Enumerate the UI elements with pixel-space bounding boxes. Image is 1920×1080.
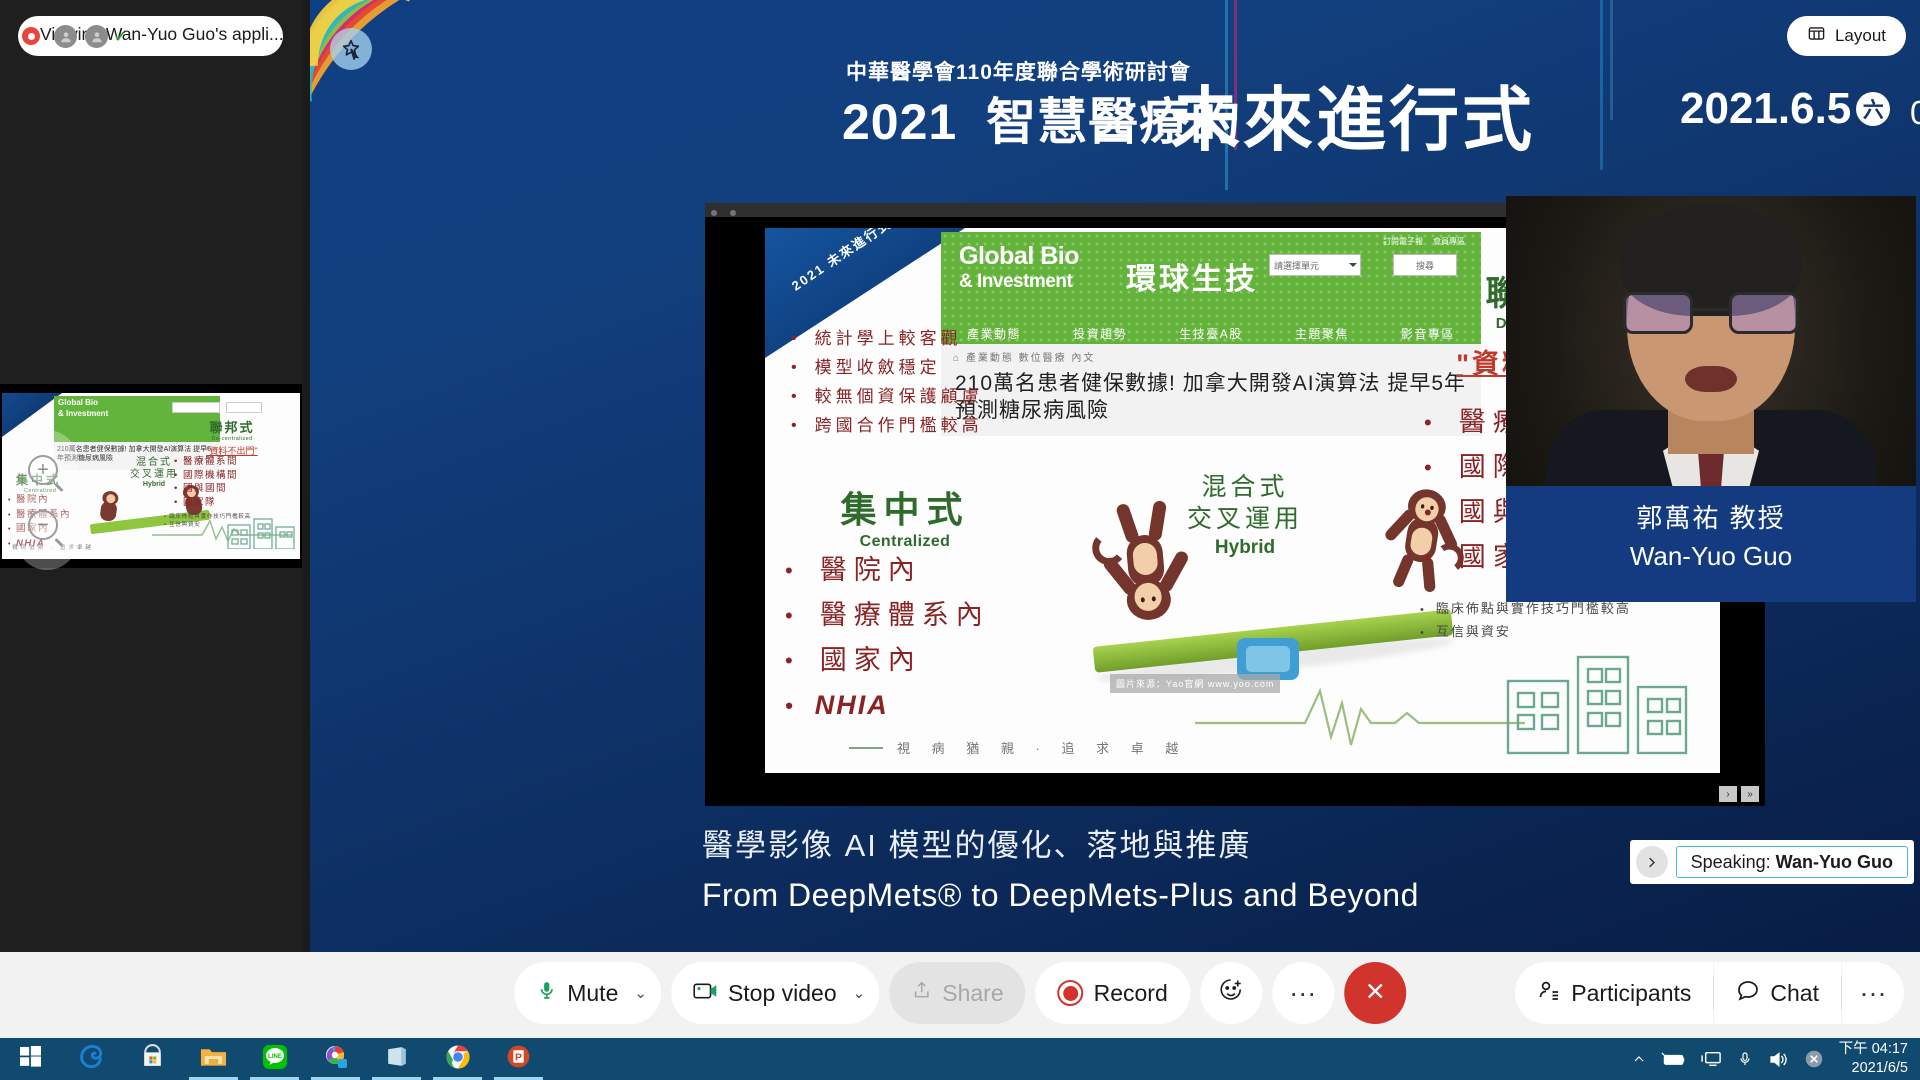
left-sidebar: Viewing Wan-Yuo Guo's appli... Global Bi… (0, 0, 302, 952)
presentation-title: 醫學影像 AI 模型的優化、落地與推廣 From DeepMets® to De… (702, 820, 1419, 914)
thumbnail-hybrid-cn: 混合式 交叉運用 (130, 457, 178, 481)
meeting-toolbar: Mute ⌄ Stop video ⌄ (0, 952, 1920, 1038)
site-nav-item: 主題聚焦 (1295, 325, 1349, 342)
news-headline-line1: 210萬名患者健保數據! 加拿大開發AI演算法 提早5年 (941, 364, 1481, 397)
banner-year: 2021 (842, 94, 957, 150)
main-stage: Layout 中華醫學會110年度聯合學術研討會 2021 智慧醫療的 未來進行… (310, 0, 1920, 952)
chevron-up-icon[interactable] (1631, 1051, 1647, 1067)
photos-icon (323, 1044, 349, 1075)
news-headline-line2: 預測糖尿病風險 (941, 397, 1481, 424)
zoom-in-magnifier-icon[interactable]: + (28, 455, 58, 485)
event-banner: 中華醫學會110年度聯合學術研討會 2021 智慧醫療的 未來進行式 2021.… (310, 48, 1920, 158)
windows-taskbar: LINE (0, 1038, 1920, 1080)
thumbnail-federated-list: • 醫療體系間 • 國際機構間 • 國與國間 • 國家隊 (174, 455, 294, 509)
network-monitor-icon[interactable] (1701, 1050, 1723, 1068)
site-search-button: 搜尋 (1393, 254, 1457, 276)
site-top-link: 訂閱電子報 (1383, 236, 1423, 247)
folder-icon (200, 1045, 227, 1074)
hybrid-cn-1: 混合式 (1160, 471, 1330, 503)
layout-grid-icon (1807, 24, 1826, 48)
zoom-control-backdrop (16, 430, 78, 570)
mute-button[interactable]: Mute ⌄ (514, 962, 661, 1024)
list-item: 跨國合作門檻較高 (791, 411, 983, 440)
site-nav-item: 影音專區 (1401, 325, 1455, 342)
speaking-name: Wan-Yuo Guo (1776, 852, 1893, 873)
chevron-right-icon[interactable] (1636, 846, 1668, 878)
centralized-cn: 集中式 (820, 481, 990, 533)
taskbar-chrome[interactable] (427, 1038, 488, 1080)
slide-news-article: ⌂ 產業動態 數位醫療 內文 210萬名患者健保數據! 加拿大開發AI演算法 提… (941, 344, 1481, 436)
list-item: 醫療體系內 (785, 593, 990, 638)
thumbnail-building-icon (226, 517, 296, 549)
clock-date: 2021/6/5 (1839, 1059, 1908, 1078)
clock-time: 下午 04:17 (1839, 1040, 1908, 1059)
list-item: 模型收斂穩定 (791, 353, 983, 382)
share-button-label: Share (942, 980, 1003, 1007)
thumbnail-site-select (172, 402, 220, 413)
ecg-waveform (1195, 683, 1525, 753)
list-item: 國際機構間 (183, 470, 238, 481)
list-item: 國與國間 (183, 483, 227, 494)
slide-hybrid-heading: 混合式 交叉運用 Hybrid (1160, 471, 1330, 559)
slide-next-button[interactable]: › (1719, 786, 1737, 802)
building-icon (1502, 647, 1692, 757)
system-tray: 下午 04:17 2021/6/5 (1631, 1040, 1912, 1078)
speaking-indicator-bar: Speaking: Wan-Yuo Guo (1630, 840, 1914, 884)
record-circle-icon (1058, 980, 1084, 1006)
hybrid-cn-2: 交叉運用 (1160, 503, 1330, 535)
site-nav: 產業動態 投資趨勢 生技臺A股 主題聚焦 影音專區 (941, 325, 1481, 342)
mute-button-label: Mute (567, 980, 618, 1007)
slide-navigation[interactable]: › » (1719, 786, 1759, 802)
svg-text:LINE: LINE (268, 1054, 282, 1060)
avatar (54, 25, 77, 48)
toolbar-more-button[interactable]: ··· (1842, 962, 1904, 1024)
taskbar-photos[interactable] (305, 1038, 366, 1080)
sticky-notes-icon (384, 1044, 409, 1074)
ellipsis-icon: ··· (1289, 987, 1316, 999)
emoji-plus-icon (1218, 978, 1244, 1009)
reactions-button[interactable] (1200, 962, 1262, 1024)
participant-video-tile[interactable]: 郭萬祐 教授 Wan-Yuo Guo (1506, 196, 1916, 602)
thumbnail-federated-cn: 聯邦式 (178, 417, 286, 436)
breadcrumb-item: 內文 (1071, 353, 1095, 364)
thumbnail-hybrid-en: Hybrid (130, 481, 178, 488)
record-dot-icon (22, 27, 40, 45)
windows-logo-icon (20, 1046, 41, 1072)
speaker-icon[interactable] (1767, 1050, 1789, 1069)
participants-button-label: Participants (1571, 980, 1691, 1007)
thumbnail-site-search (226, 402, 262, 413)
slide-centralized-list: 醫院內 醫療體系內 國家內 NHIA (785, 548, 990, 728)
taskbar-edge[interactable] (61, 1038, 122, 1080)
microsoft-store-icon (140, 1044, 165, 1074)
toolbar-center-group: Mute ⌄ Stop video ⌄ (514, 962, 1406, 1024)
record-button-label: Record (1094, 980, 1168, 1007)
mouth-shape (1685, 366, 1737, 392)
share-upload-icon (911, 980, 932, 1007)
chevron-down-icon[interactable]: ⌄ (853, 984, 866, 1002)
slide-footer-text: 視 病 猶 親 · 追 求 卓 越 (897, 738, 1187, 757)
banner-theme-big: 未來進行式 (1170, 64, 1535, 165)
banner-weekday-badge: 六 (1856, 92, 1890, 126)
slide-footer: 視 病 猶 親 · 追 求 卓 越 (849, 738, 1187, 757)
taskbar-line[interactable]: LINE (244, 1038, 305, 1080)
start-button[interactable] (0, 1038, 61, 1080)
breadcrumb: ⌂ 產業動態 數位醫療 內文 (941, 344, 1481, 364)
svg-text:P: P (515, 1053, 522, 1064)
speaking-prefix: Speaking: (1691, 852, 1771, 873)
list-item: 互信與資安 (1420, 621, 1700, 644)
banner-time: 08:30-17:10 (1910, 94, 1920, 132)
clock[interactable]: 下午 04:17 2021/6/5 (1839, 1040, 1912, 1078)
participant-name-plate: 郭萬祐 教授 Wan-Yuo Guo (1506, 486, 1916, 602)
screen-root: Viewing Wan-Yuo Guo's appli... Global Bi… (0, 0, 1920, 1080)
layout-button-label: Layout (1835, 26, 1886, 46)
share-button: Share (889, 962, 1025, 1024)
thumbnail-federated: 聯邦式 De-centralized "資料不出門" (178, 417, 286, 457)
stop-video-button-label: Stop video (728, 980, 837, 1007)
microphone-icon (536, 978, 557, 1008)
list-item: 醫院內 (785, 548, 990, 593)
battery-icon[interactable] (1661, 1051, 1687, 1067)
banner-date: 2021.6.5六 (1680, 84, 1895, 134)
taskbar-file-explorer[interactable] (183, 1038, 244, 1080)
thumbnail-hybrid: 混合式 交叉運用 Hybrid (130, 457, 178, 488)
person-list-icon (1537, 978, 1561, 1008)
chrome-icon (445, 1044, 471, 1075)
participants-button[interactable]: Participants (1515, 962, 1713, 1024)
breadcrumb-item: 數位醫療 (1019, 353, 1067, 364)
site-logo-sub: & Investment (959, 269, 1079, 294)
banner-date-value: 2021.6.5 (1680, 84, 1851, 133)
thumbnail-federated-en: De-centralized (178, 436, 286, 442)
site-logo: Global Bio & Investment (959, 244, 1079, 294)
avatar (85, 25, 108, 48)
site-nav-item: 投資趨勢 (1073, 325, 1127, 342)
presentation-title-en: From DeepMets® to DeepMets-Plus and Beyo… (702, 877, 1419, 914)
speaking-field[interactable]: Speaking: Wan-Yuo Guo (1676, 846, 1908, 878)
taskbar-sticky-notes[interactable] (366, 1038, 427, 1080)
more-options-button[interactable]: ··· (1272, 962, 1334, 1024)
slide-federated-notes: 臨床佈點與實作技巧門檻較高 互信與資安 (1420, 598, 1700, 644)
list-item: 國家隊 (183, 497, 216, 508)
list-item: 較無個資保護顧慮 (791, 382, 983, 411)
error-x-icon[interactable] (1803, 1048, 1825, 1070)
taskbar-store[interactable] (122, 1038, 183, 1080)
glasses-icon (1623, 292, 1799, 336)
leave-meeting-button[interactable] (1344, 962, 1406, 1024)
line-app-icon: LINE (262, 1044, 288, 1075)
ellipsis-icon: ··· (1860, 987, 1887, 999)
site-logo-main: Global Bio (959, 242, 1079, 270)
powerpoint-icon: P (506, 1044, 531, 1074)
presentation-title-cn: 醫學影像 AI 模型的優化、落地與推廣 (702, 820, 1419, 865)
chat-button[interactable]: Chat (1714, 962, 1841, 1024)
edge-icon (78, 1043, 105, 1075)
speech-bubble-icon (1736, 978, 1760, 1008)
participant-name-cn: 郭萬祐 教授 (1506, 498, 1916, 535)
list-item: 醫療體系間 (183, 456, 238, 467)
chevron-down-icon[interactable]: ⌄ (634, 984, 647, 1002)
toolbar-right-group: Participants Chat ··· (1515, 962, 1904, 1024)
close-x-icon (1362, 978, 1388, 1009)
hybrid-en: Hybrid (1160, 537, 1330, 559)
site-top-link: 會員專區 (1433, 236, 1465, 247)
record-button[interactable]: Record (1036, 962, 1190, 1024)
stop-video-button[interactable]: Stop video ⌄ (671, 962, 879, 1024)
slide-centralized-heading: 集中式 Centralized (820, 481, 990, 551)
site-category-select: 請選擇單元 (1269, 254, 1361, 276)
site-top-links: 訂閱電子報 會員專區 (1383, 236, 1465, 247)
slide-corner-badge-text: 2021 未來進行式 (788, 228, 895, 294)
camera-icon (693, 980, 718, 1007)
list-item: 國家內 (785, 638, 990, 683)
zoom-out-magnifier-icon[interactable]: − (28, 510, 58, 540)
footer-rule (849, 747, 883, 749)
list-item: NHIA (785, 683, 990, 728)
site-name-cn: 環球生技 (1126, 254, 1258, 298)
slide-end-button[interactable]: » (1741, 786, 1759, 802)
microphone-icon[interactable] (1737, 1049, 1753, 1069)
participant-name-en: Wan-Yuo Guo (1506, 541, 1916, 572)
window-dot-icon (711, 210, 717, 216)
site-nav-item: 生技臺A股 (1179, 325, 1243, 342)
site-nav-item: 產業動態 (967, 325, 1021, 342)
taskbar-powerpoint[interactable]: P (488, 1038, 549, 1080)
slide-site-header: Global Bio & Investment 環球生技 訂閱電子報 會員專區 … (941, 232, 1481, 344)
window-dot-icon (730, 210, 736, 216)
chat-button-label: Chat (1770, 980, 1819, 1007)
